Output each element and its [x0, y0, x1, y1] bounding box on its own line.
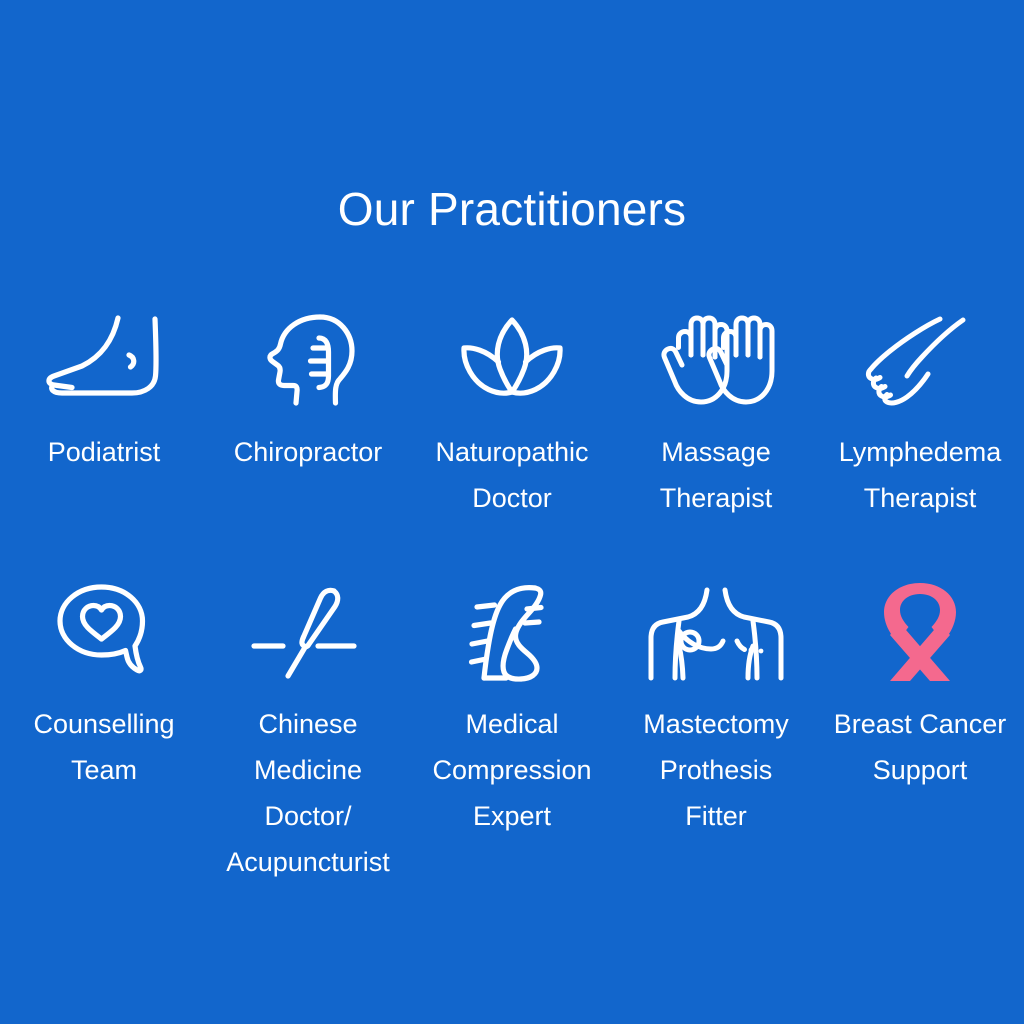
acupuncture-needle-icon: [243, 579, 373, 685]
practitioner-item-chiropractor[interactable]: Chiropractor: [206, 307, 410, 475]
massaging-hand-icon: [855, 307, 985, 413]
practitioner-item-massage-therapist[interactable]: Massage Therapist: [614, 307, 818, 521]
lotus-icon: [447, 307, 577, 413]
practitioner-label: Chiropractor: [234, 429, 383, 475]
practitioners-grid: Podiatrist Chiropractor: [0, 307, 1024, 885]
practitioner-label: Chinese Medicine Doctor/ Acupuncturist: [226, 701, 390, 885]
practitioners-board: Our Practitioners Podiatrist: [0, 0, 1024, 1024]
practitioner-item-counselling-team[interactable]: Counselling Team: [2, 579, 206, 793]
practitioner-label: Breast Cancer Support: [834, 701, 1007, 793]
practitioner-label: Massage Therapist: [660, 429, 773, 521]
practitioner-item-mastectomy-prothesis-fitter[interactable]: Mastectomy Prothesis Fitter: [614, 579, 818, 839]
practitioner-item-naturopathic-doctor[interactable]: Naturopathic Doctor: [410, 307, 614, 521]
speech-bubble-heart-icon: [39, 579, 169, 685]
head-spine-icon: [243, 307, 373, 413]
practitioners-row: Counselling Team Chinese Medicine Docto: [0, 579, 1024, 885]
practitioner-item-medical-compression-expert[interactable]: Medical Compression Expert: [410, 579, 614, 839]
pink-ribbon-icon: [855, 579, 985, 685]
practitioner-item-podiatrist[interactable]: Podiatrist: [2, 307, 206, 475]
practitioner-item-lymphedema-therapist[interactable]: Lymphedema Therapist: [818, 307, 1022, 521]
practitioner-item-chinese-medicine-doctor[interactable]: Chinese Medicine Doctor/ Acupuncturist: [206, 579, 410, 885]
practitioner-item-breast-cancer-support[interactable]: Breast Cancer Support: [818, 579, 1022, 793]
page-title: Our Practitioners: [338, 186, 687, 232]
practitioner-label: Mastectomy Prothesis Fitter: [643, 701, 789, 839]
compression-leg-icon: [447, 579, 577, 685]
practitioner-label: Lymphedema Therapist: [839, 429, 1002, 521]
practitioner-label: Naturopathic Doctor: [435, 429, 588, 521]
practitioner-label: Medical Compression Expert: [432, 701, 591, 839]
foot-icon: [39, 307, 169, 413]
mastectomy-torso-icon: [651, 579, 781, 685]
practitioner-label: Podiatrist: [48, 429, 161, 475]
practitioner-label: Counselling Team: [33, 701, 174, 793]
practitioners-row: Podiatrist Chiropractor: [0, 307, 1024, 521]
two-hands-icon: [651, 307, 781, 413]
